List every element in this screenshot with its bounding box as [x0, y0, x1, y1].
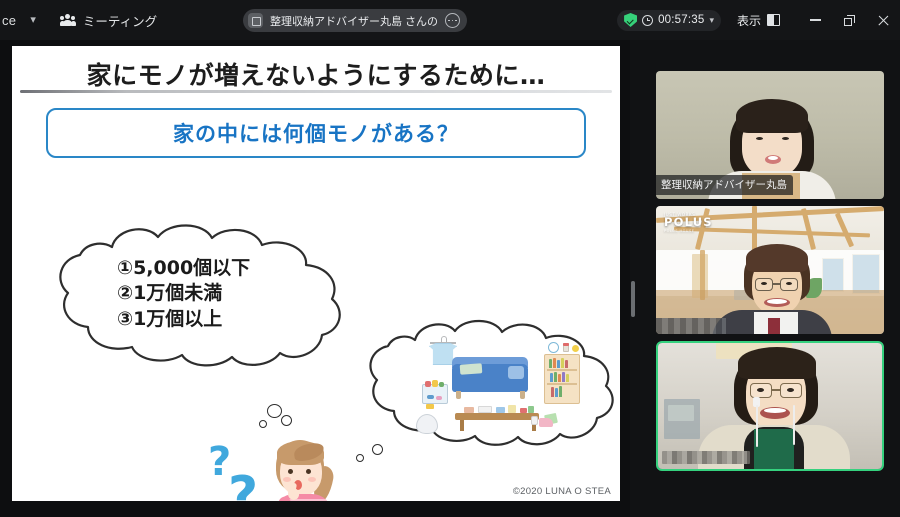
- close-button[interactable]: [866, 0, 900, 40]
- watermark-tagline: POLUS HOUSE: [664, 229, 713, 233]
- question-box: 家の中には何個モノがある？: [46, 108, 586, 158]
- sofa-leg: [520, 391, 525, 399]
- meeting-menu-button[interactable]: ミーティング: [60, 11, 157, 30]
- sofa-leg: [456, 391, 461, 399]
- meeting-timer: 00:57:35: [658, 14, 704, 26]
- copyright-notice: ©2020 LUNA O STEA: [513, 486, 611, 497]
- option-item-1: ①5,000個以下: [117, 256, 367, 281]
- title-divider: [20, 90, 612, 93]
- clock-icon: [642, 15, 653, 26]
- layout-icon: [767, 14, 780, 26]
- thought-bubble-small: [356, 454, 364, 462]
- participant-name-label: 整理収納アドバイザー丸島: [656, 175, 793, 195]
- storage-bag: [416, 414, 438, 434]
- thought-bubble-small: [281, 415, 292, 426]
- drag-handle-icon[interactable]: [631, 281, 635, 317]
- slide-title: 家にモノが増えないようにするために…: [12, 56, 620, 92]
- top-toolbar: ce ▾ ミーティング 整理収納アドバイザー丸島 さんの 00:57:35: [0, 0, 900, 40]
- people-icon: [60, 14, 76, 27]
- video-tile[interactable]: 整理収納アドバイザー丸島: [656, 71, 884, 199]
- toolbar-right-group: 00:57:35 ▾ 表示: [617, 0, 900, 40]
- restore-button[interactable]: [832, 0, 866, 40]
- thought-bubble-small: [267, 404, 282, 418]
- bookshelf: [544, 354, 580, 404]
- sofa-cushion: [508, 366, 524, 379]
- restore-icon: [844, 15, 855, 26]
- more-options-icon[interactable]: [445, 13, 460, 28]
- watermark-subtitle: JUST WORKS: [664, 212, 713, 217]
- shield-check-icon: [624, 13, 637, 27]
- meeting-status-pill[interactable]: 00:57:35 ▾: [617, 10, 721, 31]
- watermark-brand: POLUS: [664, 217, 713, 229]
- options-list: ①5,000個以下 ②1万個未満 ③1万個以上: [117, 256, 367, 332]
- view-button-label: 表示: [737, 12, 761, 29]
- screen-share-label: 整理収納アドバイザー丸島 さんの: [270, 13, 438, 29]
- chevron-down-icon[interactable]: ▾: [16, 15, 42, 26]
- screen-share-icon: [248, 13, 263, 28]
- chevron-down-icon[interactable]: ▾: [709, 15, 714, 26]
- participant-video-panel: 整理収納アドバイザー丸島: [640, 40, 900, 517]
- question-mark-icon: ?: [228, 470, 258, 501]
- option-item-3: ③1万個以上: [117, 307, 367, 332]
- meeting-menu-label: ミーティング: [83, 11, 157, 30]
- toy-box: [422, 384, 448, 404]
- meeting-window: ce ▾ ミーティング 整理収納アドバイザー丸島 さんの 00:57:35: [0, 0, 900, 517]
- video-tile-active-speaker[interactable]: [656, 341, 884, 471]
- minimize-button[interactable]: [798, 0, 832, 40]
- thought-bubble-small: [259, 420, 267, 428]
- screen-share-badge[interactable]: 整理収納アドバイザー丸島 さんの: [243, 9, 467, 32]
- toolbar-left-group: ce ▾ ミーティング: [0, 11, 157, 30]
- shared-screen-stage[interactable]: 家にモノが増えないようにするために… 家の中には何個モノがある？ ①5,000個…: [0, 40, 630, 517]
- thinking-person-illustration: [260, 436, 350, 501]
- small-clock-icon: [548, 342, 559, 353]
- option-item-2: ②1万個未満: [117, 281, 367, 306]
- video-tile[interactable]: JUST WORKS POLUS POLUS HOUSE: [656, 206, 884, 334]
- app-name-label: ce: [0, 13, 16, 28]
- coffee-table: [455, 413, 539, 420]
- sofa-throw: [460, 363, 483, 375]
- close-icon: [878, 15, 889, 26]
- minimize-icon: [810, 19, 821, 20]
- thought-bubble-small: [372, 444, 383, 455]
- presentation-slide: 家にモノが増えないようにするために… 家の中には何個モノがある？ ①5,000個…: [12, 46, 620, 501]
- polus-watermark: JUST WORKS POLUS POLUS HOUSE: [664, 212, 713, 233]
- view-button[interactable]: 表示: [737, 12, 780, 29]
- window-controls: [798, 0, 900, 40]
- question-box-text: 家の中には何個モノがある？: [173, 118, 459, 148]
